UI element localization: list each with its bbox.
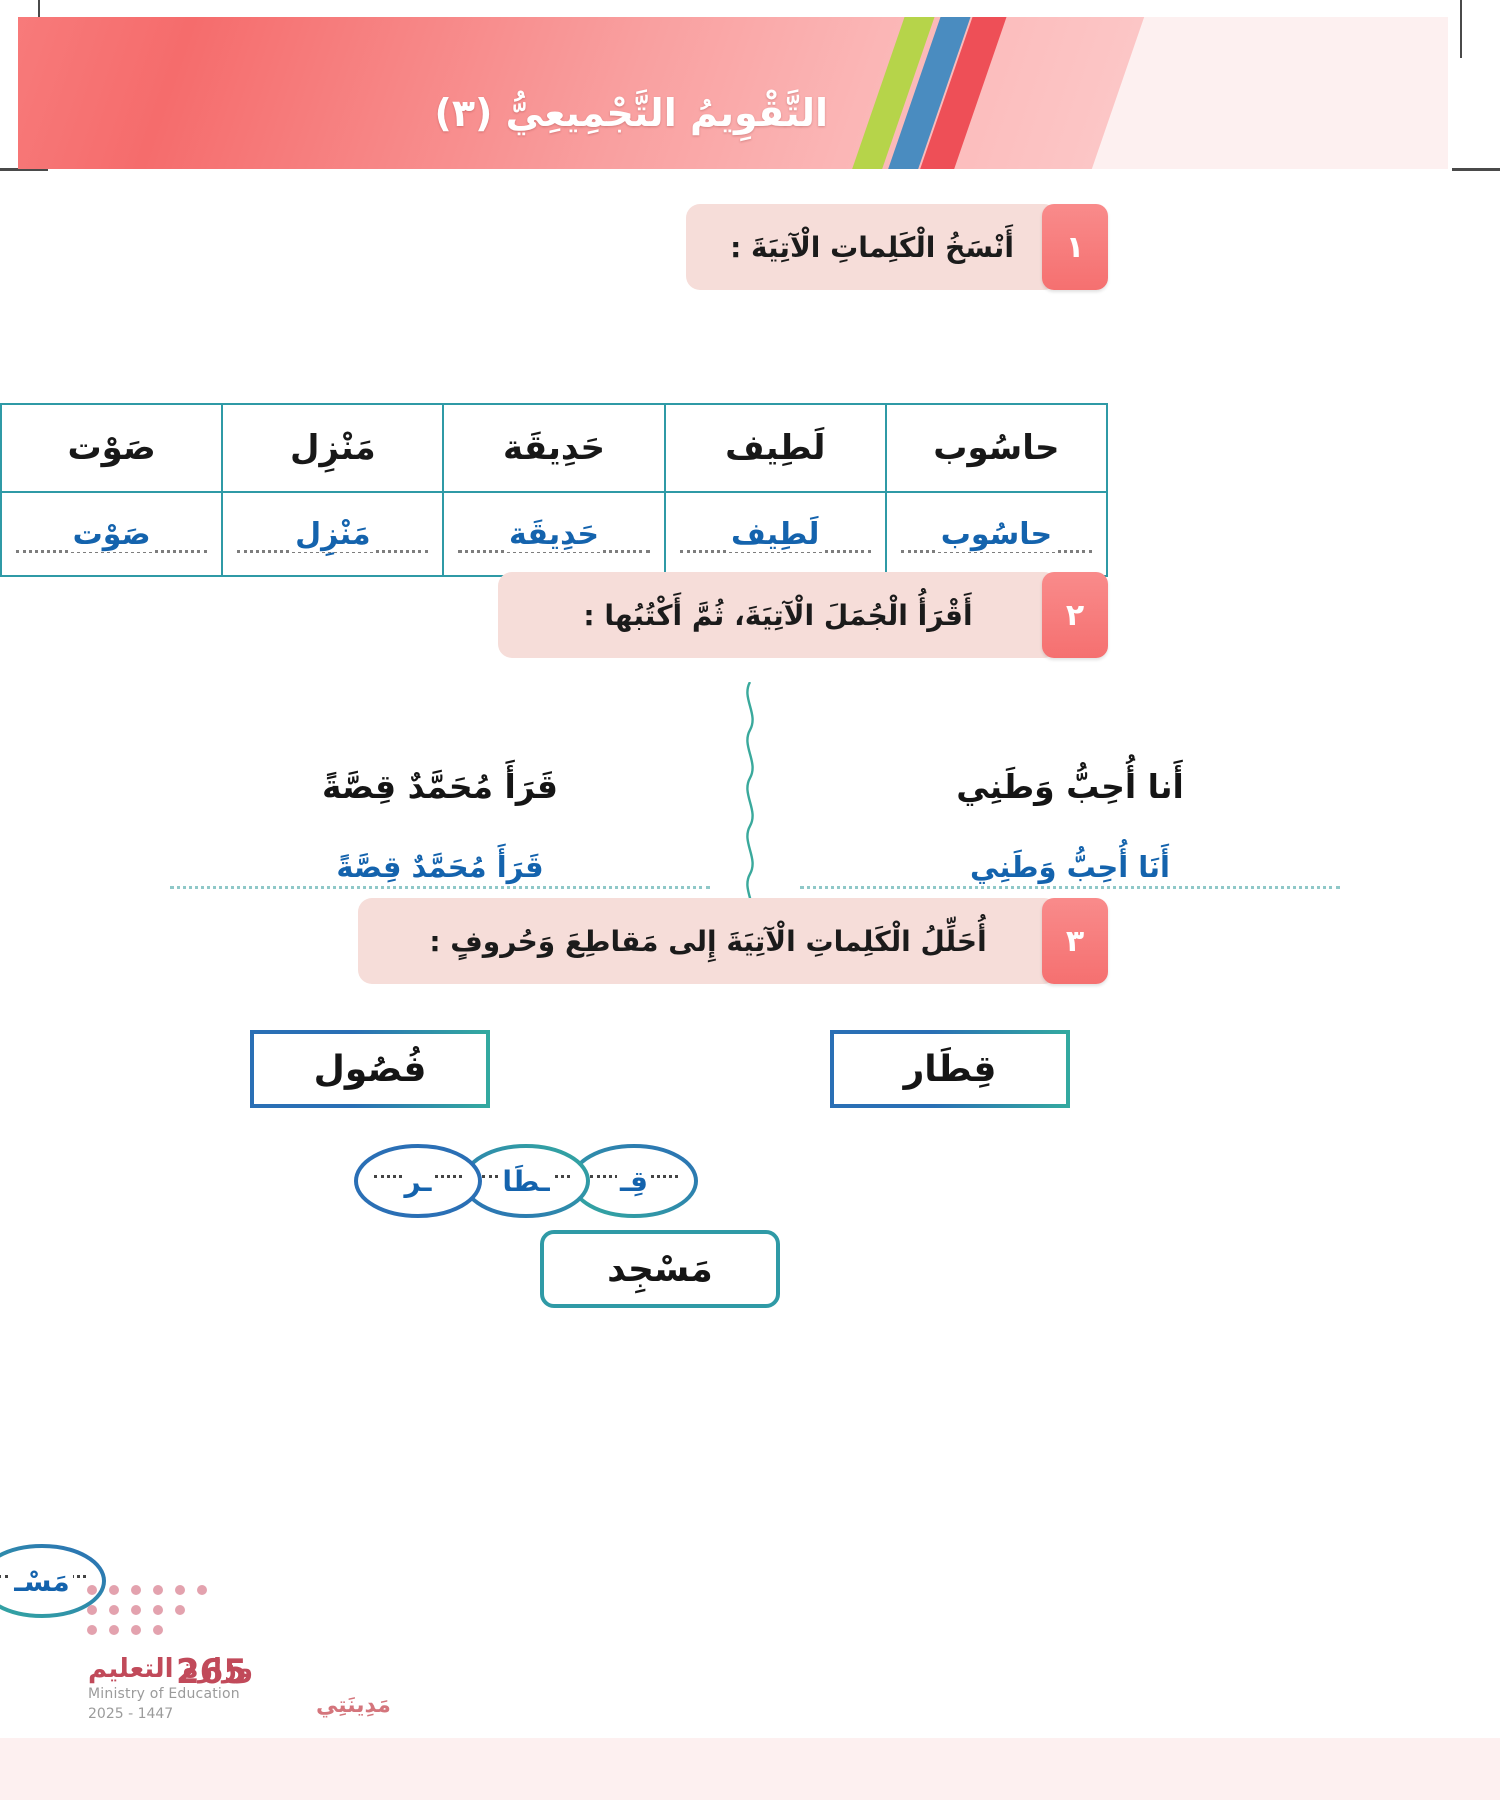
table-cell-prompt: لَطِيف <box>665 404 886 492</box>
logo-dot-grid-icon <box>84 1582 254 1648</box>
answer-wrap: حاسُوب <box>887 493 1106 575</box>
handwritten-answer: حاسُوب <box>937 517 1056 552</box>
syllable-text: ـطَا <box>499 1165 552 1198</box>
word-box: قِطَار <box>830 1030 1070 1108</box>
instruction-text-1: أَنْسَخُ الْكَلِماتِ الْآتِيَةَ : <box>686 204 1058 290</box>
instruction-text-2: أَقْرَأُ الْجُمَلَ الْآتِيَةَ، ثُمَّ أَك… <box>498 572 1058 658</box>
answer-wrap: صَوْت <box>2 493 221 575</box>
crop-mark-top-right-vertical <box>1460 0 1462 58</box>
instruction-badge-3: ٣ <box>1042 898 1108 984</box>
word-group-qitar: قِطَار قِـ <box>830 1030 1070 1108</box>
table-row-prompts: حاسُوب لَطِيف حَدِيقَة مَنْزِل صَوْت <box>1 404 1107 492</box>
wavy-divider-icon <box>737 682 763 922</box>
syllable-text: قِـ <box>617 1165 651 1198</box>
copy-words-table: حاسُوب لَطِيف حَدِيقَة مَنْزِل صَوْت حاس… <box>0 403 1108 577</box>
table-cell-prompt: حاسُوب <box>886 404 1107 492</box>
handwritten-answer: حَدِيقَة <box>505 517 603 552</box>
answer-wrap: لَطِيف <box>666 493 885 575</box>
instruction-row-3: ٣ أُحَلِّلُ الْكَلِماتِ الْآتِيَةَ إِلى … <box>358 898 1108 984</box>
instruction-row-2: ٢ أَقْرَأُ الْجُمَلَ الْآتِيَةَ، ثُمَّ أ… <box>498 572 1108 658</box>
sentence-answer-area[interactable]: قَرَأَ مُحَمَّدٌ قِصَّةً <box>170 839 710 895</box>
oval-content: قِـ <box>582 1165 686 1198</box>
worksheet-page: التَّقْوِيمُ التَّجْمِيعِيُّ (٣) ١ أَنْس… <box>0 0 1500 1800</box>
sentence-prompt: أَنا أُحِبُّ وَطَنِي <box>800 770 1340 803</box>
table-cell-prompt: مَنْزِل <box>222 404 443 492</box>
page-number: 265 <box>176 1652 247 1692</box>
syllable-text: ـر <box>402 1165 435 1198</box>
table-cell-answer[interactable]: لَطِيف <box>665 492 886 576</box>
instruction-badge-1: ١ <box>1042 204 1108 290</box>
syllable-text: مَسْـ <box>11 1565 72 1598</box>
oval-content: مَسْـ <box>0 1565 94 1598</box>
dotted-writing-line <box>170 886 710 889</box>
sentence-prompt: قَرَأَ مُحَمَّدٌ قِصَّةً <box>170 770 710 803</box>
instruction-row-1: ١ أَنْسَخُ الْكَلِماتِ الْآتِيَةَ : <box>686 204 1108 290</box>
syllable-oval-row: قِـ ـطَا <box>352 1142 700 1220</box>
table-cell-answer[interactable]: مَنْزِل <box>222 492 443 576</box>
sentence-answer-area[interactable]: أَنَا أُحِبُّ وَطَنِي <box>800 839 1340 895</box>
book-label: مَدِينَتِي <box>316 1693 391 1718</box>
crop-mark-top-right-horizontal <box>1452 168 1500 171</box>
instruction-text-3: أُحَلِّلُ الْكَلِماتِ الْآتِيَةَ إِلى مَ… <box>358 898 1058 984</box>
oval-content: ـطَا <box>474 1165 578 1198</box>
table-cell-answer[interactable]: حَدِيقَة <box>443 492 664 576</box>
sentence-column-left: قَرَأَ مُحَمَّدٌ قِصَّةً قَرَأَ مُحَمَّد… <box>170 770 710 895</box>
dotted-writing-line <box>800 886 1340 889</box>
ministry-of-education-logo: وزارة التعليم Ministry of Education 2025… <box>80 1582 310 1722</box>
header-banner: التَّقْوِيمُ التَّجْمِيعِيُّ (٣) <box>18 17 1448 169</box>
edition-year: 2025 - 1447 <box>88 1706 173 1722</box>
handwritten-answer: صَوْت <box>69 517 155 552</box>
table-cell-prompt: حَدِيقَة <box>443 404 664 492</box>
instruction-badge-2: ٢ <box>1042 572 1108 658</box>
table-cell-answer[interactable]: صَوْت <box>1 492 222 576</box>
syllable-oval[interactable]: ـر <box>352 1142 484 1220</box>
table-cell-prompt: صَوْت <box>1 404 222 492</box>
page-title: التَّقْوِيمُ التَّجْمِيعِيُّ (٣) <box>434 91 828 135</box>
word-box: مَسْجِد <box>540 1230 780 1308</box>
table-cell-answer[interactable]: حاسُوب <box>886 492 1107 576</box>
table-row-answers: حاسُوب لَطِيف حَدِيقَة مَنْزِل <box>1 492 1107 576</box>
handwritten-answer: لَطِيف <box>727 517 823 552</box>
handwritten-answer: مَنْزِل <box>291 517 375 552</box>
word-analysis-area: قِطَار قِـ <box>0 1030 1500 1500</box>
answer-wrap: حَدِيقَة <box>444 493 663 575</box>
word-box: فُصُول <box>250 1030 490 1108</box>
handwritten-answer: قَرَأَ مُحَمَّدٌ قِصَّةً <box>330 850 549 884</box>
oval-content: ـر <box>366 1165 470 1198</box>
footer-band <box>0 1738 1500 1800</box>
sentence-column-right: أَنا أُحِبُّ وَطَنِي أَنَا أُحِبُّ وَطَن… <box>800 770 1340 895</box>
handwritten-answer: أَنَا أُحِبُّ وَطَنِي <box>964 850 1176 884</box>
word-group-masjid: مَسْجِد مَسْـ <box>540 1230 780 1308</box>
answer-wrap: مَنْزِل <box>223 493 442 575</box>
word-group-fusul: فُصُول فُـ <box>250 1030 490 1108</box>
